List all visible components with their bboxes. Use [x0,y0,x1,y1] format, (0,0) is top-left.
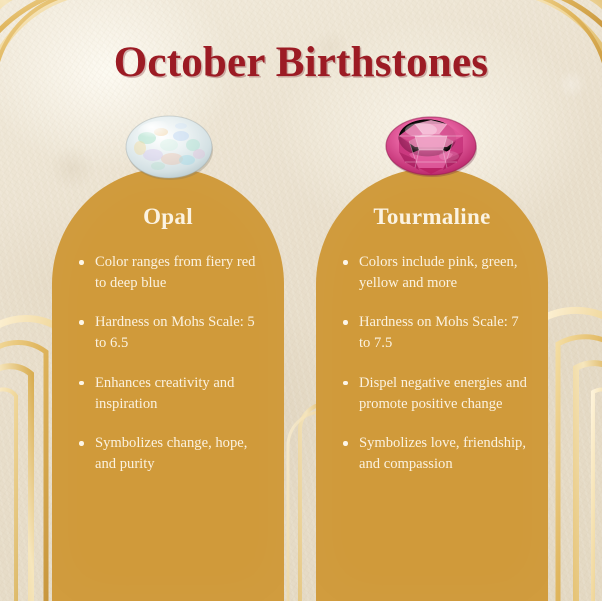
list-item: Hardness on Mohs Scale: 7 to 7.5 [342,312,532,353]
list-item: Color ranges from fiery red to deep blue [78,252,268,293]
list-item: Symbolizes change, hope, and purity [78,433,268,474]
fact-list-tourmaline: Colors include pink, green, yellow and m… [342,252,532,494]
stone-card-tourmaline: Tourmaline Colors include pink, green, y… [316,168,548,601]
stone-card-opal: Opal Color ranges from fiery red to deep… [52,168,284,601]
list-item: Colors include pink, green, yellow and m… [342,252,532,293]
fact-list-opal: Color ranges from fiery red to deep blue… [78,252,268,494]
tourmaline-gem-image [385,114,477,178]
stone-name-tourmaline: Tourmaline [316,204,548,230]
tourmaline-faceted-gem-icon [385,114,477,178]
stone-name-opal: Opal [52,204,284,230]
october-birthstones-poster: October Birthstones Opal Color ranges fr… [0,0,602,601]
opal-cabochon-gem-icon [125,114,213,180]
list-item: Symbolizes love, friendship, and compass… [342,433,532,474]
list-item: Enhances creativity and inspiration [78,373,268,414]
list-item: Hardness on Mohs Scale: 5 to 6.5 [78,312,268,353]
list-item: Dispel negative energies and promote pos… [342,373,532,414]
page-title: October Birthstones [0,38,602,87]
opal-gem-image [125,114,213,180]
